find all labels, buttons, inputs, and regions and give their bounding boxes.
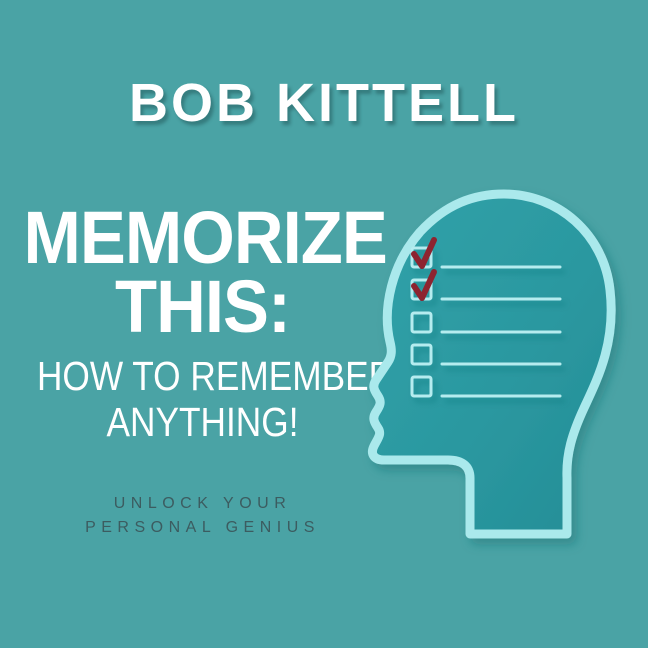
author-name: BOB KITTELL (0, 74, 648, 132)
subtitle-line-one: HOW TO REMEMBER (37, 353, 368, 399)
title-line-primary: MEMORIZE (23, 205, 381, 271)
tagline-line-two: PERSONAL GENIUS (10, 516, 395, 540)
title-line-secondary: THIS: (23, 271, 381, 343)
head-profile-illustration (352, 186, 632, 556)
subtitle-line-two: ANYTHING! (37, 399, 368, 445)
tagline: UNLOCK YOUR PERSONAL GENIUS (10, 492, 395, 540)
tagline-line-one: UNLOCK YOUR (10, 492, 395, 516)
title-block: MEMORIZE THIS: HOW TO REMEMBER ANYTHING! (10, 205, 395, 445)
audiobook-cover: BOB KITTELL MEMORIZE THIS: HOW TO REMEMB… (0, 0, 648, 648)
